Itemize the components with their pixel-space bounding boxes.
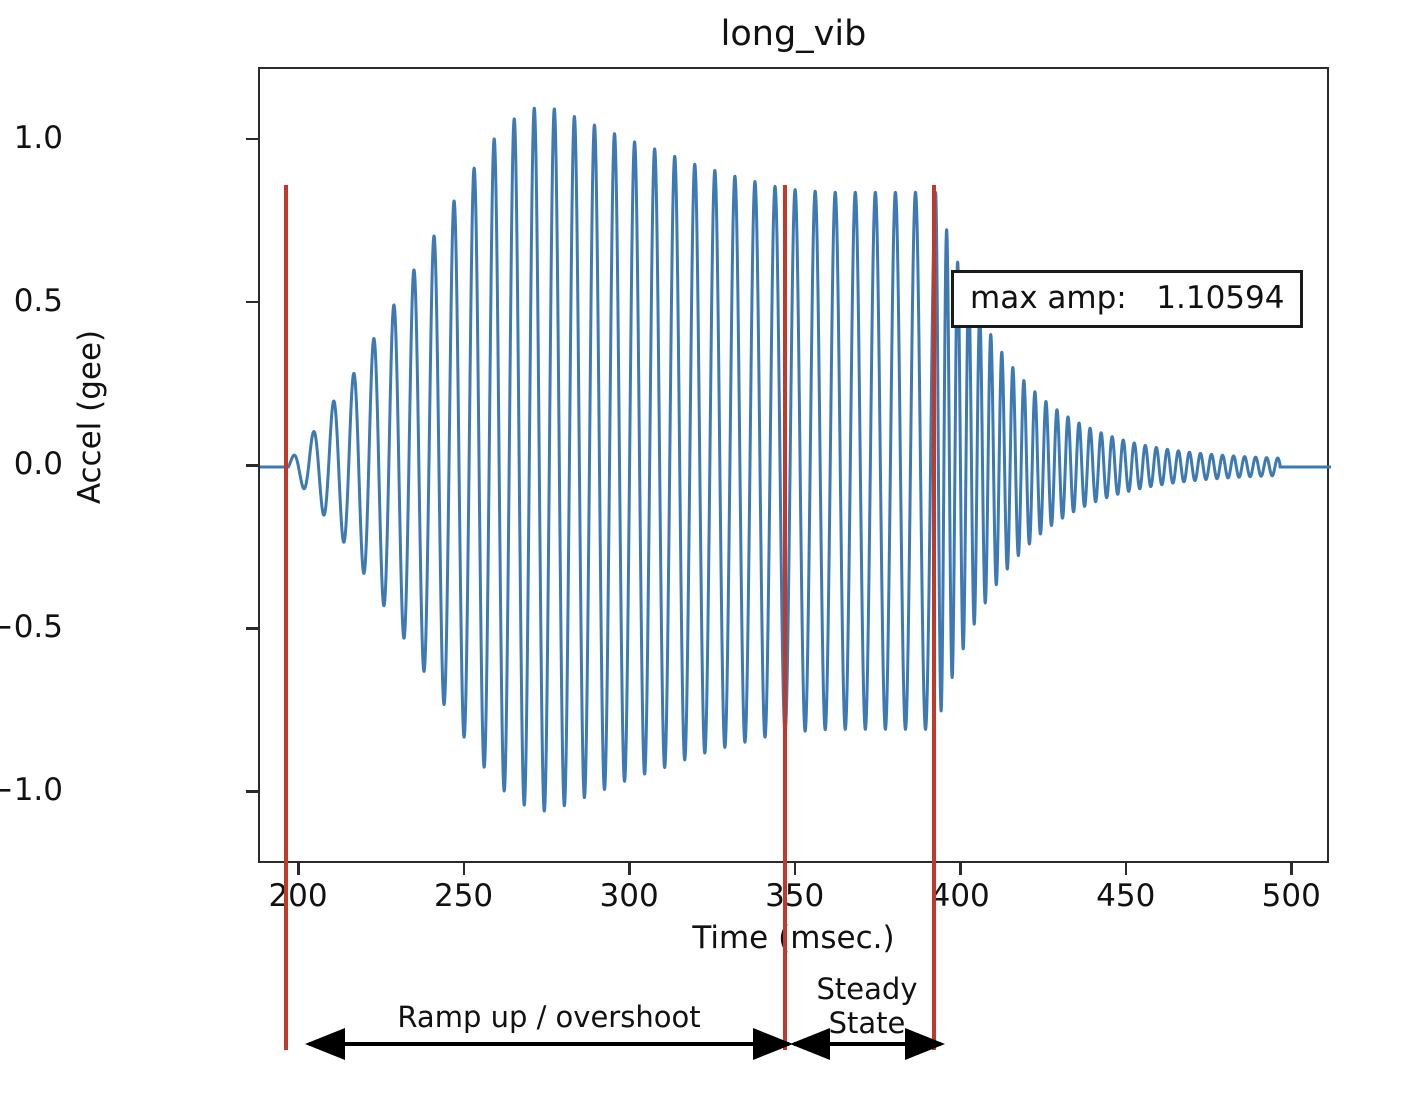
region-label-steady-state: Steady State: [791, 972, 943, 1040]
x-tick-label: 400: [890, 878, 1030, 914]
x-tick-label: 500: [1221, 878, 1361, 914]
y-tick-mark: [246, 301, 258, 304]
max-amp-annotation: max amp: 1.10594: [951, 270, 1303, 328]
y-tick-label: 0.5: [0, 286, 63, 317]
y-tick-label: 0.0: [0, 449, 63, 480]
region-label-steady-line1: Steady: [791, 972, 943, 1006]
x-tick-label: 350: [725, 878, 865, 914]
plot-area: [258, 67, 1329, 863]
waveform-svg: [260, 69, 1331, 865]
x-axis-label: Time (msec.): [258, 920, 1329, 956]
x-tick-label: 450: [1056, 878, 1196, 914]
waveform-line: [260, 108, 1331, 811]
y-tick-label: −1.0: [0, 775, 63, 806]
x-tick-label: 200: [228, 878, 368, 914]
y-tick-label: 1.0: [0, 123, 63, 154]
figure-canvas: long_vib Accel (gee) Time (msec.) 1.00.5…: [0, 0, 1410, 1100]
y-tick-mark: [246, 790, 258, 793]
y-tick-label: −0.5: [0, 612, 63, 643]
y-tick-mark: [246, 138, 258, 141]
page-title: long_vib: [258, 14, 1329, 54]
vline-steady-start: [783, 185, 787, 1050]
x-tick-label: 300: [559, 878, 699, 914]
vline-drive-cutoff: [932, 185, 936, 1050]
region-label-ramp-up: Ramp up / overshoot: [307, 1000, 791, 1034]
y-tick-mark: [246, 627, 258, 630]
x-tick-label: 250: [394, 878, 534, 914]
region-label-steady-line2: State: [791, 1006, 943, 1040]
y-axis-label: Accel (gee): [73, 267, 107, 567]
vline-ramp-start: [284, 185, 288, 1050]
y-tick-mark: [246, 464, 258, 467]
